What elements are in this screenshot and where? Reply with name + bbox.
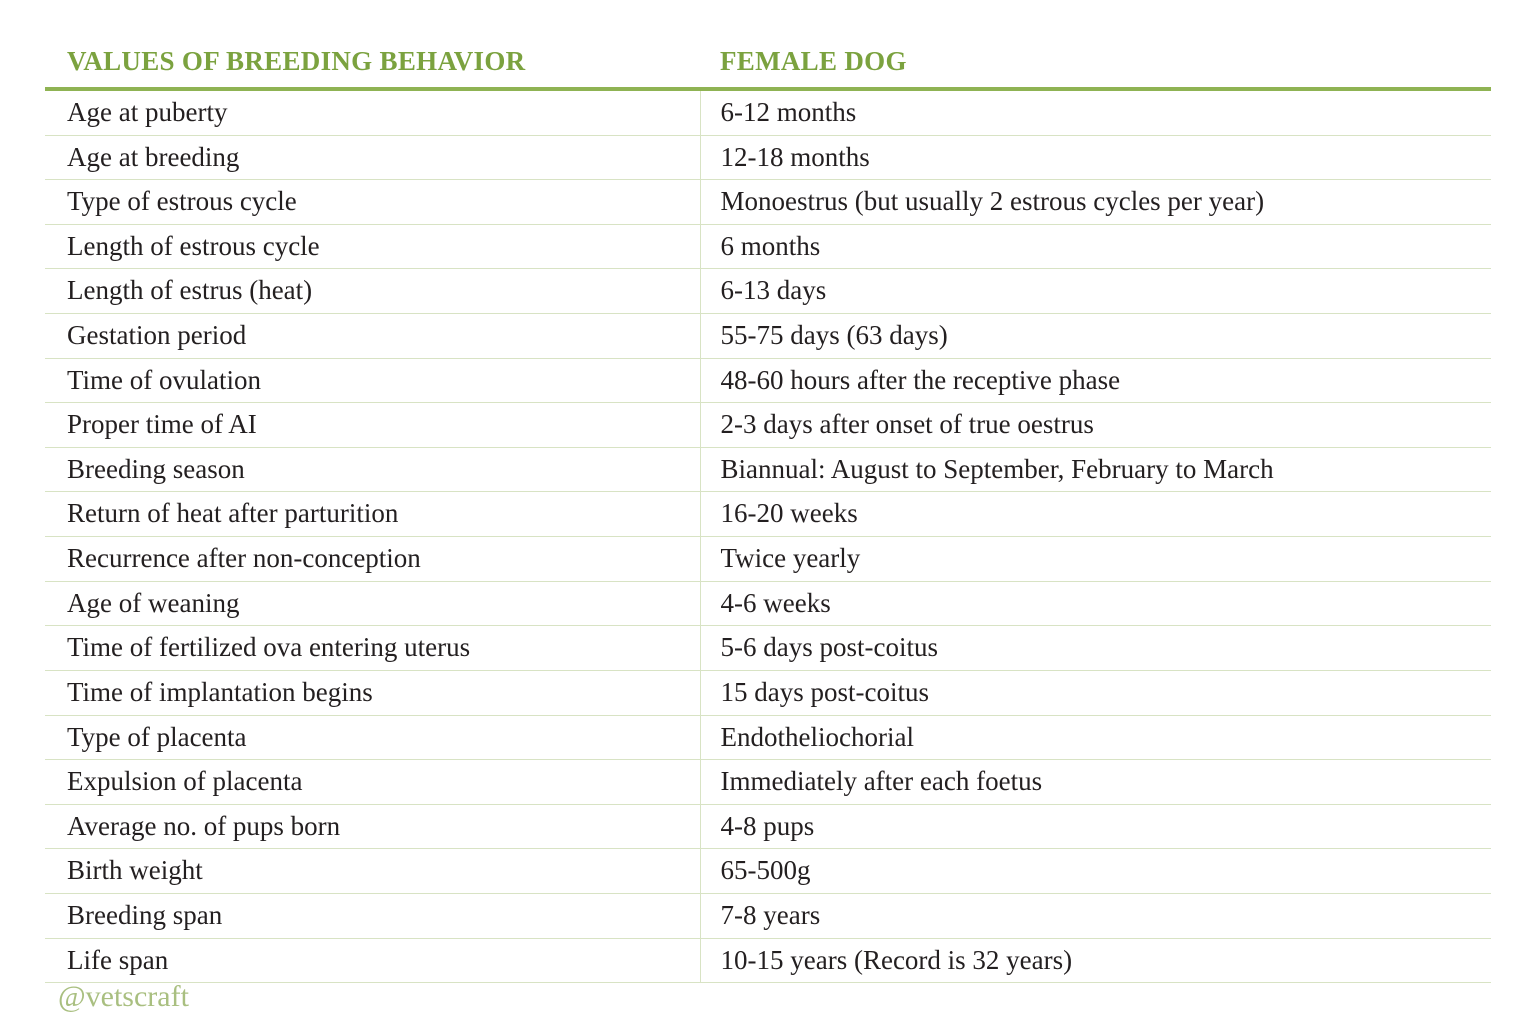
table-row: Breeding span 7-8 years [45,893,1491,938]
row-value: 2-3 days after onset of true oestrus [700,403,1491,448]
row-value: 7-8 years [700,893,1491,938]
row-value: Endotheliochorial [700,715,1491,760]
row-value: Immediately after each foetus [700,760,1491,805]
row-label: Length of estrus (heat) [45,269,700,314]
row-label: Gestation period [45,314,700,359]
table-row: Age at breeding 12-18 months [45,135,1491,180]
table-row: Length of estrous cycle 6 months [45,224,1491,269]
row-value: 6-13 days [700,269,1491,314]
table-row: Age at puberty 6-12 months [45,89,1491,135]
table-row: Length of estrus (heat) 6-13 days [45,269,1491,314]
row-label: Length of estrous cycle [45,224,700,269]
row-value: Biannual: August to September, February … [700,447,1491,492]
table-row: Average no. of pups born 4-8 pups [45,804,1491,849]
row-value: 6-12 months [700,89,1491,135]
table-row: Age of weaning 4-6 weeks [45,581,1491,626]
row-label: Time of ovulation [45,358,700,403]
row-value: Twice yearly [700,537,1491,582]
row-label: Time of fertilized ova entering uterus [45,626,700,671]
row-label: Return of heat after parturition [45,492,700,537]
row-value: 4-8 pups [700,804,1491,849]
row-label: Type of placenta [45,715,700,760]
table-row: Time of fertilized ova entering uterus 5… [45,626,1491,671]
table-row: Expulsion of placenta Immediately after … [45,760,1491,805]
table-row: Return of heat after parturition 16-20 w… [45,492,1491,537]
table-row: Recurrence after non-conception Twice ye… [45,537,1491,582]
column-header-values-of-breeding-behavior: VALUES OF BREEDING BEHAVIOR [45,38,700,89]
document-page: VALUES OF BREEDING BEHAVIOR FEMALE DOG A… [0,0,1536,1032]
row-value: 5-6 days post-coitus [700,626,1491,671]
row-label: Expulsion of placenta [45,760,700,805]
row-label: Life span [45,938,700,983]
row-label: Birth weight [45,849,700,894]
row-value: 48-60 hours after the receptive phase [700,358,1491,403]
row-value: 16-20 weeks [700,492,1491,537]
row-value: 4-6 weeks [700,581,1491,626]
table-row: Proper time of AI 2-3 days after onset o… [45,403,1491,448]
row-label: Average no. of pups born [45,804,700,849]
row-label: Breeding span [45,893,700,938]
row-label: Type of estrous cycle [45,180,700,225]
row-value: 65-500g [700,849,1491,894]
row-label: Proper time of AI [45,403,700,448]
row-value: 15 days post-coitus [700,670,1491,715]
table-header: VALUES OF BREEDING BEHAVIOR FEMALE DOG [45,38,1491,89]
table-row: Time of ovulation 48-60 hours after the … [45,358,1491,403]
watermark-handle: @vetscraft [58,980,189,1014]
row-value: 12-18 months [700,135,1491,180]
table-row: Type of estrous cycle Monoestrus (but us… [45,180,1491,225]
table-row: Birth weight 65-500g [45,849,1491,894]
row-label: Age at puberty [45,89,700,135]
table-row: Type of placenta Endotheliochorial [45,715,1491,760]
row-label: Time of implantation begins [45,670,700,715]
row-value: 10-15 years (Record is 32 years) [700,938,1491,983]
row-value: Monoestrus (but usually 2 estrous cycles… [700,180,1491,225]
row-value: 6 months [700,224,1491,269]
column-header-female-dog: FEMALE DOG [700,38,1491,89]
row-label: Age of weaning [45,581,700,626]
table-row: Time of implantation begins 15 days post… [45,670,1491,715]
row-value: 55-75 days (63 days) [700,314,1491,359]
header-row: VALUES OF BREEDING BEHAVIOR FEMALE DOG [45,38,1491,89]
row-label: Recurrence after non-conception [45,537,700,582]
row-label: Age at breeding [45,135,700,180]
table-body: Age at puberty 6-12 months Age at breedi… [45,89,1491,983]
row-label: Breeding season [45,447,700,492]
table-row: Life span 10-15 years (Record is 32 year… [45,938,1491,983]
table-row: Gestation period 55-75 days (63 days) [45,314,1491,359]
table-row: Breeding season Biannual: August to Sept… [45,447,1491,492]
breeding-behavior-table: VALUES OF BREEDING BEHAVIOR FEMALE DOG A… [45,38,1491,983]
